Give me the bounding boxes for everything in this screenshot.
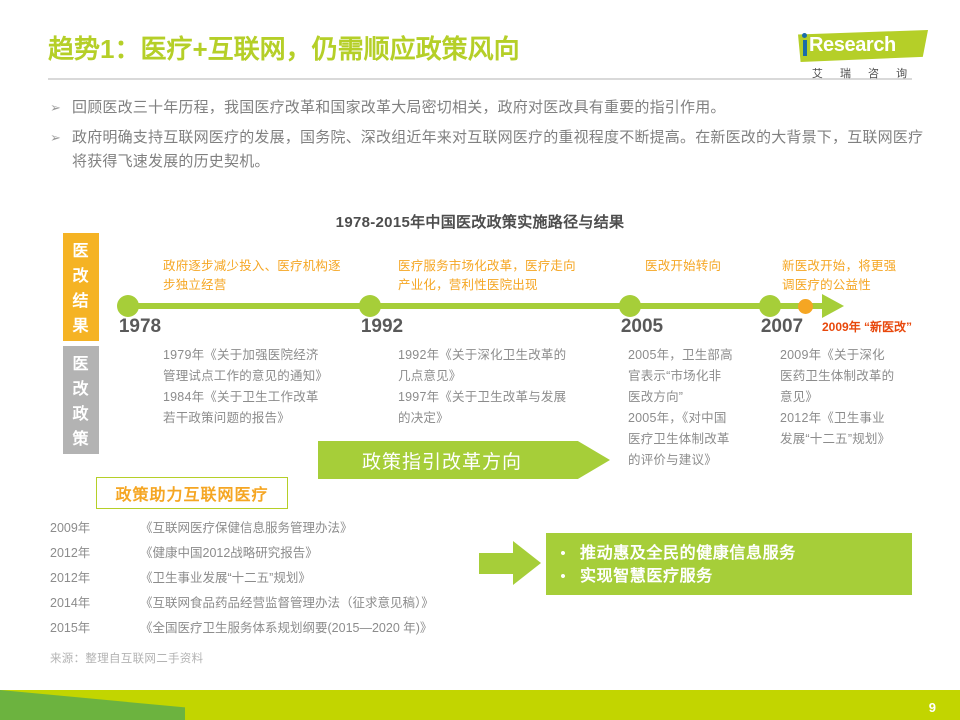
row-label-char: 策 <box>63 427 99 452</box>
outcome-bullet-icon: • <box>546 542 580 565</box>
arrow-shaft <box>479 553 515 574</box>
bullet-item: ➢ 政府明确支持互联网医疗的发展，国务院、深改组近年来对互联网医疗的重视程度不断… <box>46 126 926 174</box>
list-item: 2015年 《全国医疗卫生服务体系规划纲要(2015—2020 年)》 <box>50 616 434 641</box>
outcome-item: • 推动惠及全民的健康信息服务 <box>546 542 912 565</box>
policy-direction-banner: 政策指引改革方向 <box>318 441 610 479</box>
timeline-arrow-icon <box>822 294 844 318</box>
bullet-text: 政府明确支持互联网医疗的发展，国务院、深改组近年来对互联网医疗的重视程度不断提高… <box>72 126 926 174</box>
row-label-result: 医 改 结 果 <box>63 233 99 341</box>
row-label-char: 结 <box>63 289 99 314</box>
list-item-name: 《互联网食品药品经营监督管理办法（征求意见稿）》 <box>140 591 434 616</box>
policy-line: 2012年《卫生事业 <box>780 408 935 429</box>
bullet-item: ➢ 回顾医改三十年历程，我国医疗改革和国家改革大局密切相关，政府对医改具有重要的… <box>46 96 926 120</box>
timeline-dot-2007 <box>759 295 781 317</box>
policy-line: 医药卫生体制改革的 <box>780 366 935 387</box>
list-item: 2014年 《互联网食品药品经营监督管理办法（征求意见稿）》 <box>50 591 434 616</box>
timeline-axis <box>128 303 828 309</box>
list-item: 2012年 《卫生事业发展“十二五”规划》 <box>50 566 434 591</box>
chart-title: 1978-2015年中国医改政策实施路径与结果 <box>0 211 960 232</box>
list-item-year: 2009年 <box>50 516 140 541</box>
page-number: 9 <box>929 700 936 715</box>
timeline-result-2007: 新医改开始，将更强调医疗的公益性 <box>782 257 902 295</box>
list-item-year: 2012年 <box>50 566 140 591</box>
policy-line: 1997年《关于卫生改革与发展 <box>398 387 603 408</box>
outcome-bullet-icon: • <box>546 565 580 588</box>
policy-line: 医改方向” <box>628 387 773 408</box>
policy-column-2007: 2009年《关于深化医药卫生体制改革的意见》2012年《卫生事业发展“十二五”规… <box>780 345 935 450</box>
timeline-dot-1978 <box>117 295 139 317</box>
list-item: 2012年 《健康中国2012战略研究报告》 <box>50 541 434 566</box>
policy-direction-banner-label: 政策指引改革方向 <box>318 447 522 474</box>
policy-line: 医疗卫生体制改革 <box>628 429 773 450</box>
policy-line: 管理试点工作的意见的通知》 <box>163 366 363 387</box>
policy-line: 1984年《关于卫生工作改革 <box>163 387 363 408</box>
policy-column-1978: 1979年《关于加强医院经济管理试点工作的意见的通知》1984年《关于卫生工作改… <box>163 345 363 429</box>
row-label-char: 果 <box>63 314 99 339</box>
timeline-year-label: 1992 <box>361 316 403 338</box>
timeline-dot-1992 <box>359 295 381 317</box>
policy-line: 2009年《关于深化 <box>780 345 935 366</box>
row-label-char: 医 <box>63 239 99 264</box>
list-item-year: 2015年 <box>50 616 140 641</box>
arrow-head <box>513 541 541 585</box>
timeline-result-1992: 医疗服务市场化改革，医疗走向产业化，营利性医院出现 <box>398 257 578 295</box>
policy-line: 2005年，《对中国 <box>628 408 773 429</box>
footer-bar: 9 <box>0 690 960 720</box>
internet-health-policy-label: 政策助力互联网医疗 <box>115 481 268 505</box>
slide-root: 趋势1：医疗+互联网，仍需顺应政策风向 Research 艾 瑞 咨 询 ➢ 回… <box>0 0 960 720</box>
row-label-char: 改 <box>63 377 99 402</box>
page-title: 趋势1：医疗+互联网，仍需顺应政策风向 <box>48 29 520 66</box>
timeline-dot-2009 <box>798 299 813 314</box>
row-label-char: 医 <box>63 352 99 377</box>
list-item-name: 《卫生事业发展“十二五”规划》 <box>140 566 311 591</box>
policy-line: 1979年《关于加强医院经济 <box>163 345 363 366</box>
policy-line: 几点意见》 <box>398 366 603 387</box>
outcome-item: • 实现智慧医疗服务 <box>546 565 912 588</box>
policy-column-2005: 2005年，卫生部高官表示“市场化非医改方向”2005年，《对中国医疗卫生体制改… <box>628 345 773 471</box>
bullet-arrow-icon: ➢ <box>46 126 72 150</box>
list-item-year: 2012年 <box>50 541 140 566</box>
policy-list: 2009年 《互联网医疗保健信息服务管理办法》 2012年 《健康中国2012战… <box>50 516 434 641</box>
policy-line: 官表示“市场化非 <box>628 366 773 387</box>
logo-i-dot-icon <box>802 33 807 38</box>
list-item-year: 2014年 <box>50 591 140 616</box>
policy-line: 若干政策问题的报告》 <box>163 408 363 429</box>
policy-line: 发展“十二五”规划》 <box>780 429 935 450</box>
internet-health-policy-box: 政策助力互联网医疗 <box>96 477 288 509</box>
timeline-result-1978: 政府逐步减少投入、医疗机构逐步独立经营 <box>163 257 343 295</box>
policy-line: 意见》 <box>780 387 935 408</box>
logo-subtitle: 艾 瑞 咨 询 <box>799 65 927 81</box>
timeline-result-2005: 医改开始转向 <box>645 257 755 276</box>
footer-accent-shape <box>0 690 185 720</box>
bullet-arrow-icon: ➢ <box>46 96 72 120</box>
row-label-char: 政 <box>63 402 99 427</box>
bullet-list: ➢ 回顾医改三十年历程，我国医疗改革和国家改革大局密切相关，政府对医改具有重要的… <box>46 96 926 180</box>
iresearch-logo: Research 艾 瑞 咨 询 <box>780 26 930 84</box>
row-label-char: 改 <box>63 264 99 289</box>
policy-line: 的决定》 <box>398 408 603 429</box>
logo-i-stem-icon <box>803 40 807 56</box>
row-label-policy: 医 改 政 策 <box>63 346 99 454</box>
list-item-name: 《全国医疗卫生服务体系规划纲要(2015—2020 年)》 <box>140 616 432 641</box>
policy-line: 1992年《关于深化卫生改革的 <box>398 345 603 366</box>
timeline-note-2009: 2009年 “新医改” <box>822 318 912 335</box>
timeline-year-label: 2007 <box>761 316 803 338</box>
outcome-label: 推动惠及全民的健康信息服务 <box>580 542 796 565</box>
outcome-arrow-icon <box>479 541 541 585</box>
outcome-label: 实现智慧医疗服务 <box>580 565 713 588</box>
list-item-name: 《互联网医疗保健信息服务管理办法》 <box>140 516 353 541</box>
source-note: 来源：整理自互联网二手资料 <box>50 650 203 666</box>
outcome-box: • 推动惠及全民的健康信息服务 • 实现智慧医疗服务 <box>546 533 912 595</box>
logo-brand-text: Research <box>809 34 896 57</box>
timeline-dot-2005 <box>619 295 641 317</box>
list-item: 2009年 《互联网医疗保健信息服务管理办法》 <box>50 516 434 541</box>
timeline-year-label: 1978 <box>119 316 161 338</box>
timeline-year-label: 2005 <box>621 316 663 338</box>
policy-line: 的评价与建议》 <box>628 450 773 471</box>
list-item-name: 《健康中国2012战略研究报告》 <box>140 541 318 566</box>
policy-line: 2005年，卫生部高 <box>628 345 773 366</box>
policy-column-1992: 1992年《关于深化卫生改革的几点意见》1997年《关于卫生改革与发展的决定》 <box>398 345 603 429</box>
bullet-text: 回顾医改三十年历程，我国医疗改革和国家改革大局密切相关，政府对医改具有重要的指引… <box>72 96 726 120</box>
